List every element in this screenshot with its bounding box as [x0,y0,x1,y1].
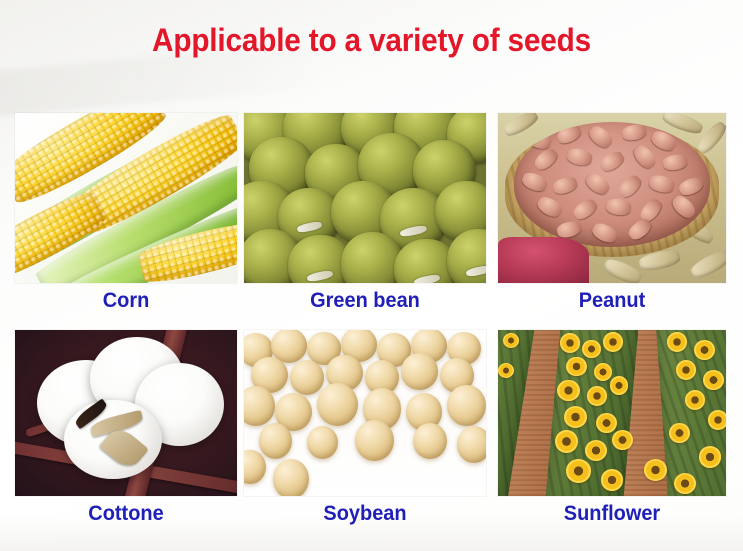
gallery-item-soybean[interactable]: Soybean [244,330,486,530]
caption-corn: Corn [21,289,232,313]
caption-green-bean: Green bean [250,289,480,313]
gallery-item-corn[interactable]: Corn [15,113,237,313]
caption-soybean: Soybean [250,502,480,526]
gallery-item-sunflower[interactable]: Sunflower [498,330,726,530]
cotton-photo [15,330,237,496]
caption-sunflower: Sunflower [504,502,721,526]
caption-peanut: Peanut [504,289,721,313]
gallery-item-cotton[interactable]: Cottone [15,330,237,530]
gallery-item-green-bean[interactable]: Green bean [244,113,486,313]
corn-photo [15,113,237,283]
green-bean-photo [244,113,486,283]
caption-cotton: Cottone [21,502,232,526]
peanut-photo [498,113,726,283]
seed-gallery: Corn Green bean [0,0,743,551]
sunflower-photo [498,330,726,496]
gallery-item-peanut[interactable]: Peanut [498,113,726,313]
soybean-photo [244,330,486,496]
